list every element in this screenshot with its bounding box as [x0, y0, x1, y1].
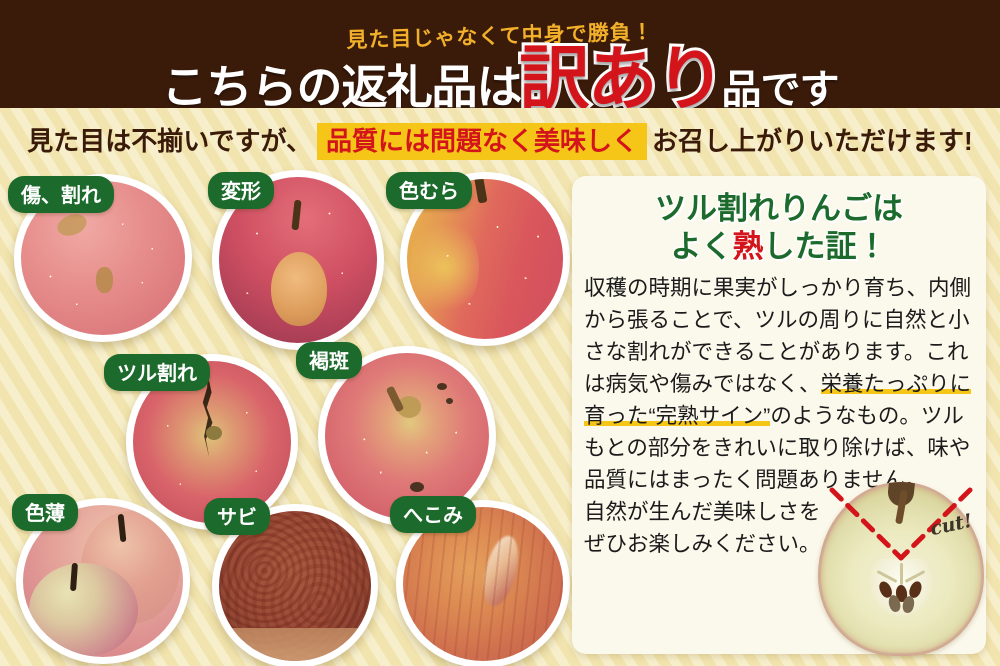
defect-tag: 色薄: [12, 494, 78, 531]
body-seg3: 自然が生んだ美味しさを: [584, 500, 821, 524]
panel-title-line2c: した証！: [764, 229, 888, 264]
headline-part2: 品です: [722, 68, 839, 108]
defect-tag: ツル割れ: [104, 354, 210, 391]
header-band: 見た目じゃなくて中身で勝負！ こちらの返礼品は訳あり品です: [0, 0, 1000, 108]
defect-tag: 傷、割れ: [8, 176, 114, 213]
defect-tag: へこみ: [390, 496, 476, 533]
headline-part1: こちらの返礼品は: [162, 61, 522, 108]
body-seg4: ぜひお楽しみください。: [584, 532, 821, 556]
defect-photo-grid: 傷、割れ 変形: [0, 170, 572, 666]
panel-title-line2a: よく: [671, 229, 733, 264]
subtitle-highlight: 品質には問題なく美味しく: [317, 123, 647, 160]
defect-tag: 褐斑: [296, 342, 362, 379]
defect-tag: 色むら: [386, 172, 472, 209]
panel-title-accent: 熟: [733, 229, 764, 264]
header-headline: こちらの返礼品は訳あり品です: [0, 44, 1000, 108]
panel-title-line1: ツル割れりんごは: [655, 191, 903, 226]
panel-title: ツル割れりんごは よく熟した証！: [572, 190, 986, 266]
defect-tag: 変形: [208, 172, 274, 209]
headline-emphasis: 訳あり: [520, 40, 724, 108]
subtitle-line: 見た目は不揃いですが、品質には問題なく美味しくお召し上がりいただけます!: [0, 124, 1000, 158]
cut-apple-illustration: cut!: [818, 482, 984, 656]
defect-tag: サビ: [204, 498, 270, 535]
cut-line-guide: [818, 482, 984, 656]
subtitle-after: お召し上がりいただけます!: [652, 126, 973, 156]
poster-canvas: 見た目じゃなくて中身で勝負！ こちらの返礼品は訳あり品です 見た目は不揃いですが…: [0, 0, 1000, 666]
body-underline2: “完熟サイン”: [649, 404, 771, 428]
subtitle-before: 見た目は不揃いですが、: [27, 126, 312, 156]
